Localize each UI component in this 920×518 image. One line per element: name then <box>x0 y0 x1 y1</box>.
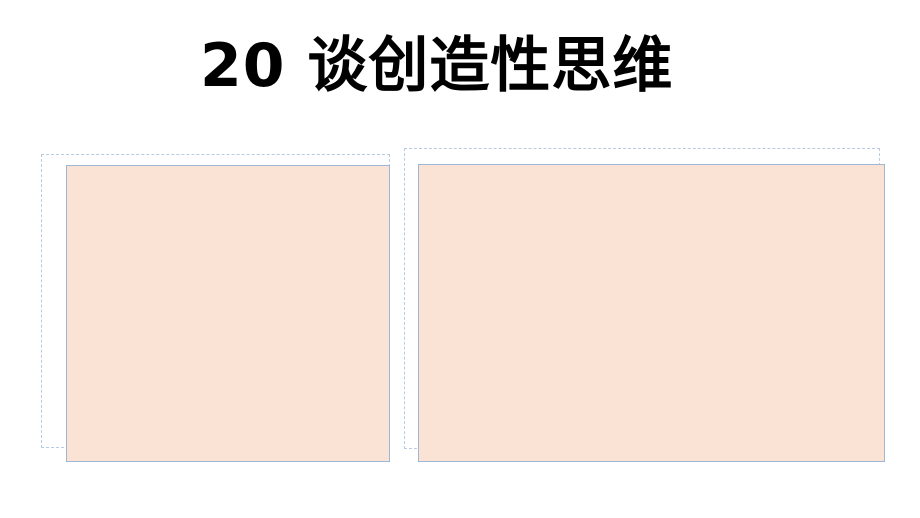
right-picture-frame[interactable] <box>418 164 885 462</box>
page-title: 20 谈创造性思维 <box>200 34 740 98</box>
slide-canvas: 20 谈创造性思维 <box>0 0 920 518</box>
left-picture-frame[interactable] <box>66 165 390 462</box>
